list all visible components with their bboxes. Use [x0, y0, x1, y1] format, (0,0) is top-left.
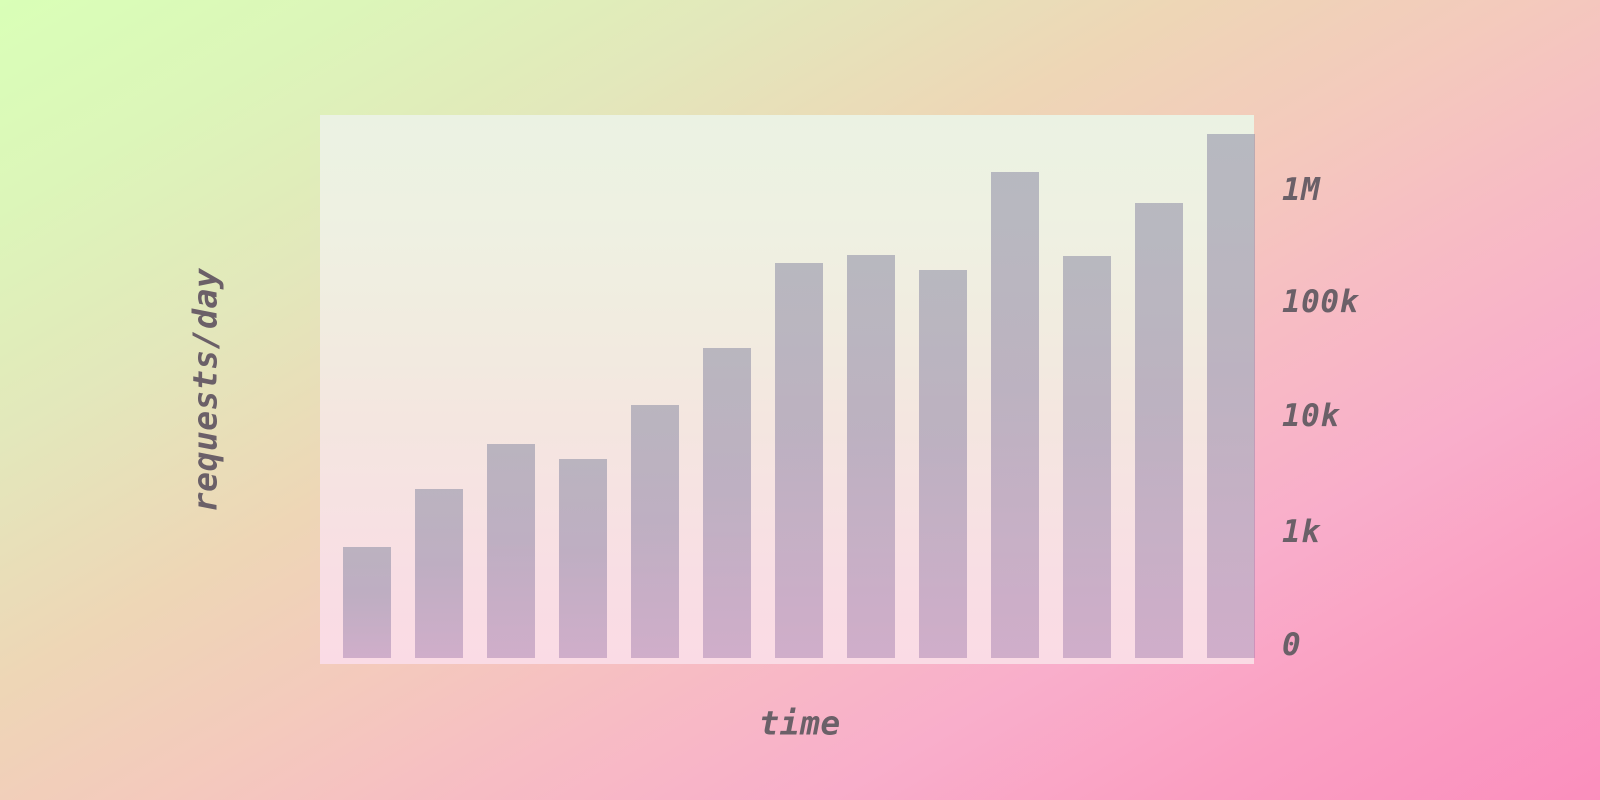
bar — [559, 459, 607, 658]
bar — [847, 255, 895, 658]
bar — [1063, 256, 1111, 658]
chart-stage: 1M100k10k1k0 requests/day time — [0, 0, 1600, 800]
y-axis-tick-label: 0 — [1282, 627, 1301, 663]
bar — [487, 444, 535, 658]
plot-area — [320, 115, 1254, 664]
bar — [631, 405, 679, 658]
plot-panel — [320, 115, 1254, 664]
bar — [1207, 134, 1255, 658]
y-axis-tick-label: 1M — [1282, 172, 1320, 208]
bar — [991, 172, 1039, 658]
bar — [703, 348, 751, 658]
bar — [415, 489, 463, 658]
y-axis-title: requests/day — [186, 268, 225, 512]
y-axis-tick-label: 100k — [1282, 284, 1359, 320]
bar — [343, 547, 391, 658]
x-axis-title: time — [759, 704, 840, 743]
y-axis-tick-label: 10k — [1282, 398, 1340, 434]
bar — [919, 270, 967, 658]
bar — [775, 263, 823, 658]
y-axis-tick-label: 1k — [1282, 514, 1320, 550]
bar — [1135, 203, 1183, 658]
